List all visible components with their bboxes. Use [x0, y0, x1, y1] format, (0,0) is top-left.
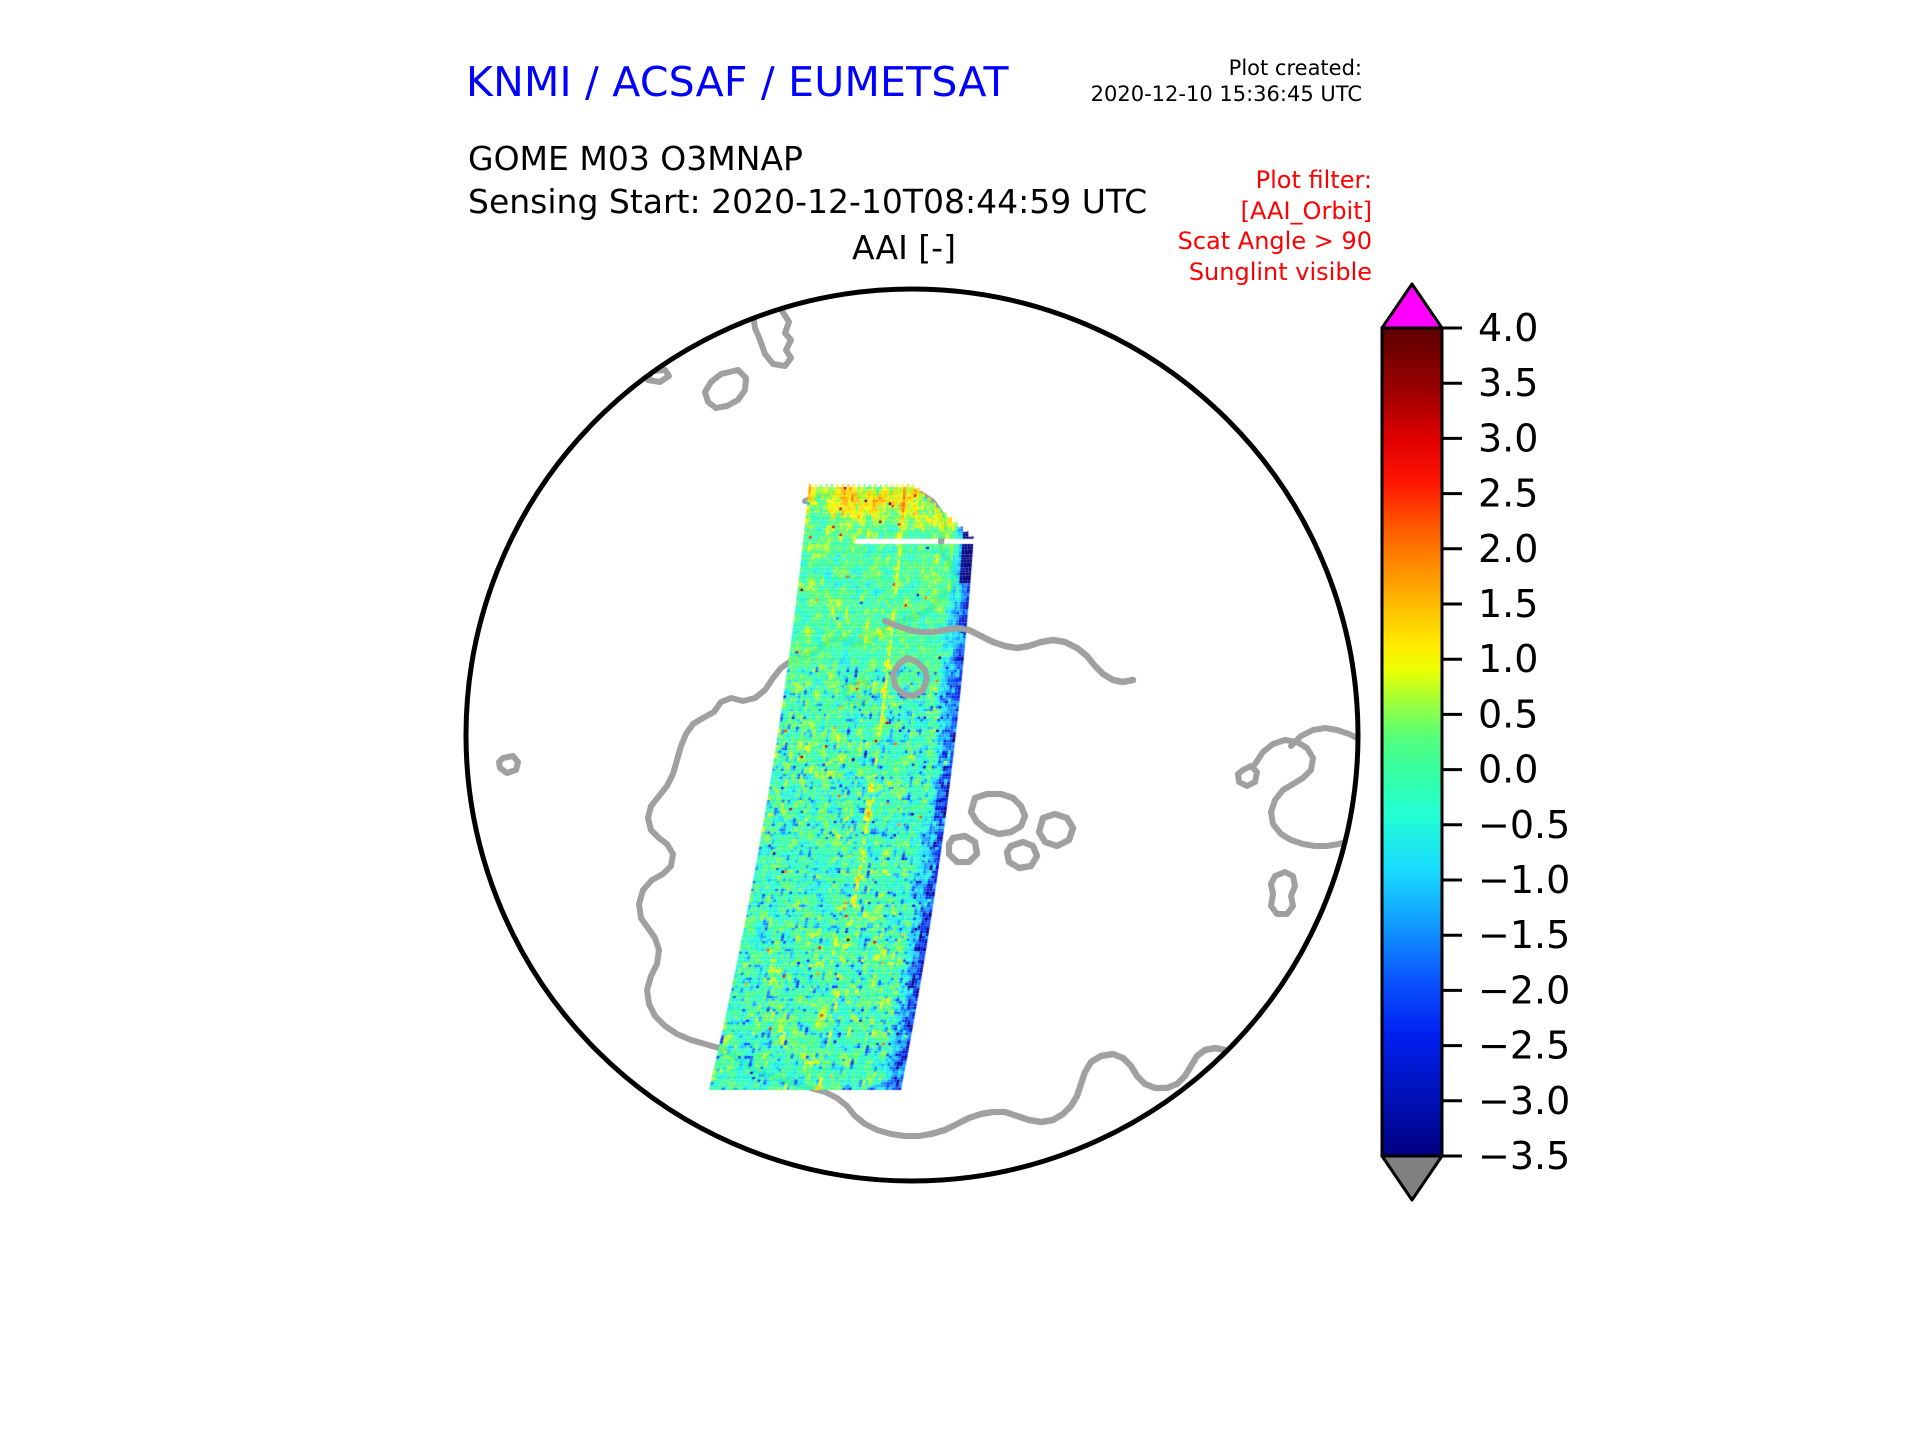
colorbar-tick-label: 1.0 [1478, 637, 1538, 681]
colorbar-ticks [1442, 328, 1462, 1156]
colorbar-over-arrow [1382, 284, 1442, 328]
filter-label: Plot filter: [1178, 165, 1372, 196]
plot-created-block: Plot created: 2020-12-10 15:36:45 UTC [1091, 56, 1362, 107]
colorbar-tick-label: 1.5 [1478, 582, 1538, 626]
filter-condition: Scat Angle > 90 [1178, 226, 1372, 257]
aai-swath-canvas-holder [455, 278, 1369, 1192]
colorbar-tick-label: 3.5 [1478, 361, 1538, 405]
colorbar-tick-label: 0.5 [1478, 692, 1538, 736]
coastline-nz-outlying-island [577, 390, 601, 414]
aai-swath-canvas [455, 278, 1369, 1192]
filter-product: [AAI_Orbit] [1178, 196, 1372, 227]
globe-map [455, 278, 1369, 1192]
colorbar-tick-label: 3.0 [1478, 416, 1538, 460]
colorbar: 4.03.53.02.52.01.51.00.50.0−0.5−1.0−1.5−… [1366, 278, 1666, 1328]
colorbar-tick-label: −2.5 [1478, 1024, 1570, 1068]
colorbar-under-arrow [1382, 1156, 1442, 1200]
map-plot-area [455, 278, 1369, 1192]
colorbar-svg: 4.03.53.02.52.01.51.00.50.0−0.5−1.0−1.5−… [1366, 278, 1666, 1328]
colorbar-tick-label: −3.5 [1478, 1134, 1570, 1178]
plot-created-value: 2020-12-10 15:36:45 UTC [1091, 82, 1362, 108]
colorbar-gradient [1382, 328, 1442, 1156]
quantity-title: AAI [-] [852, 228, 956, 267]
sensing-start-title: Sensing Start: 2020-12-10T08:44:59 UTC [468, 181, 1147, 224]
instrument-title: GOME M03 O3MNAP [468, 138, 1147, 181]
organisation-title: KNMI / ACSAF / EUMETSAT [466, 58, 1009, 106]
plot-created-label: Plot created: [1091, 56, 1362, 82]
colorbar-tick-labels: 4.03.53.02.52.01.51.00.50.0−0.5−1.0−1.5−… [1478, 306, 1570, 1178]
plot-filter-block: Plot filter: [AAI_Orbit] Scat Angle > 90… [1178, 165, 1372, 288]
colorbar-tick-label: −2.0 [1478, 968, 1570, 1012]
colorbar-tick-label: 0.0 [1478, 748, 1538, 792]
title-block: GOME M03 O3MNAP Sensing Start: 2020-12-1… [468, 138, 1147, 224]
colorbar-tick-label: 2.0 [1478, 527, 1538, 571]
plot-page: KNMI / ACSAF / EUMETSAT Plot created: 20… [0, 0, 1920, 1440]
colorbar-tick-label: 2.5 [1478, 472, 1538, 516]
colorbar-tick-label: −1.5 [1478, 913, 1570, 957]
colorbar-tick-label: −3.0 [1478, 1079, 1570, 1123]
colorbar-tick-label: −0.5 [1478, 803, 1570, 847]
colorbar-tick-label: 4.0 [1478, 306, 1538, 350]
colorbar-tick-label: −1.0 [1478, 858, 1570, 902]
